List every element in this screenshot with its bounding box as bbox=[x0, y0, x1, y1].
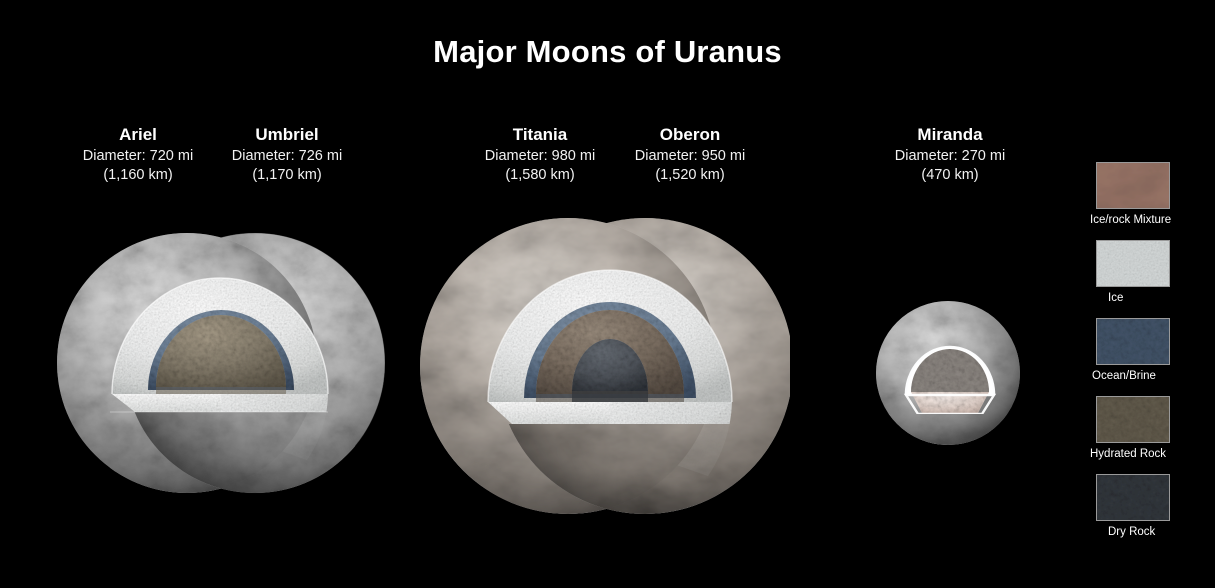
legend-swatch-dry-rock bbox=[1096, 474, 1170, 521]
material-legend: Ice/rock Mixture Ice Ocean/Brine bbox=[1090, 162, 1215, 552]
moon-name-ariel: Ariel bbox=[58, 124, 218, 145]
moon-diameter-mi-ariel: Diameter: 720 mi bbox=[58, 147, 218, 165]
infographic-canvas: Major Moons of Uranus bbox=[0, 0, 1215, 588]
moon-diameter-km-oberon: (1,520 km) bbox=[610, 166, 770, 184]
moon-diameter-mi-umbriel: Diameter: 726 mi bbox=[207, 147, 367, 165]
legend-label-ocean-brine: Ocean/Brine bbox=[1090, 370, 1215, 382]
legend-item-ice: Ice bbox=[1090, 240, 1215, 304]
moon-label-oberon: Oberon Diameter: 950 mi (1,520 km) bbox=[610, 124, 770, 184]
moon-name-miranda: Miranda bbox=[870, 124, 1030, 145]
moon-graphic-miranda bbox=[870, 295, 1030, 455]
legend-item-hydrated-rock: Hydrated Rock bbox=[1090, 396, 1215, 460]
moon-diameter-mi-oberon: Diameter: 950 mi bbox=[610, 147, 770, 165]
legend-item-ocean-brine: Ocean/Brine bbox=[1090, 318, 1215, 382]
moon-label-umbriel: Umbriel Diameter: 726 mi (1,170 km) bbox=[207, 124, 367, 184]
moon-diameter-km-ariel: (1,160 km) bbox=[58, 166, 218, 184]
moon-diameter-mi-miranda: Diameter: 270 mi bbox=[870, 147, 1030, 165]
moon-label-miranda: Miranda Diameter: 270 mi (470 km) bbox=[870, 124, 1030, 184]
legend-swatch-ice bbox=[1096, 240, 1170, 287]
moon-name-umbriel: Umbriel bbox=[207, 124, 367, 145]
moon-graphic-titania-oberon bbox=[420, 188, 790, 548]
page-title: Major Moons of Uranus bbox=[0, 34, 1215, 70]
moon-diameter-km-miranda: (470 km) bbox=[870, 166, 1030, 184]
moon-diameter-mi-titania: Diameter: 980 mi bbox=[460, 147, 620, 165]
moon-name-titania: Titania bbox=[460, 124, 620, 145]
legend-label-dry-rock: Dry Rock bbox=[1090, 526, 1215, 538]
moon-label-ariel: Ariel Diameter: 720 mi (1,160 km) bbox=[58, 124, 218, 184]
moon-diameter-km-umbriel: (1,170 km) bbox=[207, 166, 367, 184]
legend-swatch-ocean-brine bbox=[1096, 318, 1170, 365]
legend-swatch-ice-rock-mixture bbox=[1096, 162, 1170, 209]
moon-graphic-ariel-umbriel bbox=[55, 198, 385, 528]
legend-item-dry-rock: Dry Rock bbox=[1090, 474, 1215, 538]
legend-label-hydrated-rock: Hydrated Rock bbox=[1090, 448, 1215, 460]
legend-item-ice-rock-mixture: Ice/rock Mixture bbox=[1090, 162, 1215, 226]
moon-name-oberon: Oberon bbox=[610, 124, 770, 145]
moon-label-titania: Titania Diameter: 980 mi (1,580 km) bbox=[460, 124, 620, 184]
moon-diameter-km-titania: (1,580 km) bbox=[460, 166, 620, 184]
legend-label-ice-rock-mixture: Ice/rock Mixture bbox=[1090, 214, 1215, 226]
legend-swatch-hydrated-rock bbox=[1096, 396, 1170, 443]
legend-label-ice: Ice bbox=[1090, 292, 1215, 304]
